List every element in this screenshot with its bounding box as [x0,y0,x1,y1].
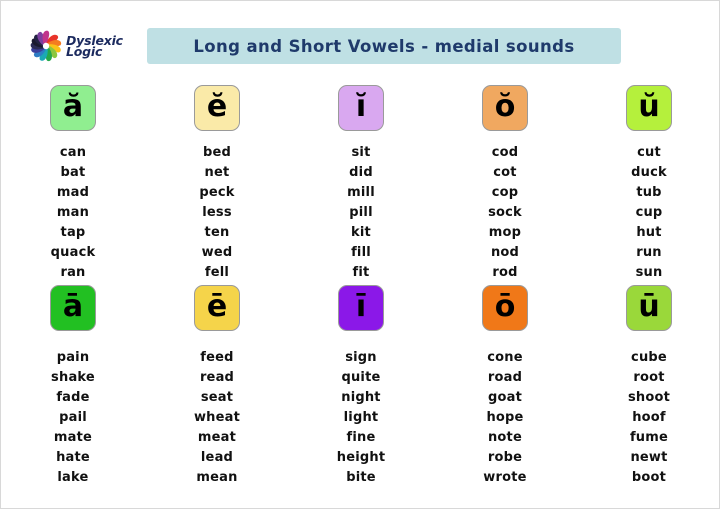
vowel-column-long-e: ēfeedreadseatwheatmeatleadmean [145,285,289,488]
word-item: run [636,243,662,263]
word-item: fit [353,263,370,283]
word-item: cube [631,348,667,368]
word-item: ten [205,223,230,243]
vowel-column-short-o: ŏcodcotcopsockmopnodrod [433,85,577,283]
word-item: height [337,448,386,468]
word-item: cod [492,143,519,163]
word-item: peck [199,183,234,203]
word-item: sign [345,348,377,368]
vowel-glyph-short-u: ŭ [638,92,659,122]
vowel-column-short-u: ŭcutducktubcuphutrunsun [577,85,720,283]
word-item: mad [57,183,89,203]
word-item: cone [487,348,523,368]
word-item: pail [59,408,87,428]
word-item: pain [57,348,90,368]
word-item: shoot [628,388,670,408]
vowel-glyph-short-a: ă [63,92,83,122]
word-item: bed [203,143,231,163]
vowel-glyph-long-a: ā [63,292,83,322]
word-item: duck [631,163,667,183]
word-item: wheat [194,408,240,428]
word-item: did [349,163,373,183]
vowel-column-long-o: ōconeroadgoathopenoterobewrote [433,285,577,488]
word-item: mop [489,223,521,243]
word-item: mean [196,468,237,488]
word-item: wrote [483,468,526,488]
word-item: hope [486,408,523,428]
vowel-column-short-e: ĕbednetpecklesstenwedfell [145,85,289,283]
word-item: sock [488,203,522,223]
word-item: nod [491,243,519,263]
page-header: Dyslexic Logic Long and Short Vowels - m… [1,23,720,69]
word-list-long-a: painshakefadepailmatehatelake [51,348,95,488]
word-item: sit [351,143,370,163]
vowel-tile-long-u[interactable]: ū [626,285,672,331]
word-item: quack [51,243,96,263]
word-item: tap [61,223,86,243]
word-item: hate [56,448,90,468]
word-item: bite [346,468,376,488]
short-vowels-section: ăcanbatmadmantapquackranĕbednetpecklesst… [1,85,720,283]
word-item: hut [636,223,661,243]
word-item: pill [349,203,372,223]
word-list-long-i: signquitenightlightfineheightbite [337,348,386,488]
word-item: fade [56,388,89,408]
word-item: lead [201,448,233,468]
word-list-long-o: coneroadgoathopenoterobewrote [483,348,526,488]
word-item: boot [632,468,666,488]
vowel-tile-long-o[interactable]: ō [482,285,528,331]
word-item: cup [636,203,663,223]
word-item: man [57,203,89,223]
word-item: shake [51,368,95,388]
brand-name-line-2: Logic [66,46,123,58]
title-banner: Long and Short Vowels - medial sounds [147,28,621,64]
vowel-tile-short-i[interactable]: ĭ [338,85,384,131]
brand-logo-wordmark: Dyslexic Logic [66,35,123,58]
word-item: road [488,368,522,388]
vowel-glyph-short-i: ĭ [356,92,366,122]
word-item: tub [636,183,661,203]
brand-logo: Dyslexic Logic [29,29,141,63]
vowel-column-long-i: īsignquitenightlightfineheightbite [289,285,433,488]
word-item: night [341,388,381,408]
word-item: cot [493,163,516,183]
word-item: seat [201,388,233,408]
vowel-tile-short-a[interactable]: ă [50,85,96,131]
vowel-glyph-long-u: ū [638,292,659,322]
vowel-tile-short-e[interactable]: ĕ [194,85,240,131]
word-item: lake [57,468,88,488]
worksheet-page: Dyslexic Logic Long and Short Vowels - m… [0,0,720,509]
vowel-glyph-long-i: ī [356,292,366,322]
word-list-short-i: sitdidmillpillkitfillfit [347,143,375,283]
vowel-column-short-a: ăcanbatmadmantapquackran [1,85,145,283]
word-item: fill [351,243,371,263]
word-item: light [344,408,379,428]
word-item: mill [347,183,375,203]
word-item: sun [636,263,663,283]
vowel-column-short-i: ĭsitdidmillpillkitfillfit [289,85,433,283]
word-list-short-u: cutducktubcuphutrunsun [631,143,667,283]
word-item: net [205,163,230,183]
word-item: meat [198,428,236,448]
vowel-glyph-long-e: ē [207,292,227,322]
sunburst-logo-icon [29,29,63,63]
word-item: kit [351,223,371,243]
word-item: mate [54,428,92,448]
word-item: feed [200,348,233,368]
vowel-tile-long-a[interactable]: ā [50,285,96,331]
word-list-long-u: cuberootshoothooffumenewtboot [628,348,670,488]
word-item: cop [492,183,519,203]
word-item: less [202,203,232,223]
word-item: robe [488,448,522,468]
word-item: newt [630,448,667,468]
word-item: rod [492,263,517,283]
word-item: fell [205,263,229,283]
word-item: read [200,368,234,388]
word-item: fine [347,428,376,448]
vowel-glyph-long-o: ō [495,292,516,322]
word-list-short-a: canbatmadmantapquackran [51,143,96,283]
vowel-tile-short-u[interactable]: ŭ [626,85,672,131]
word-item: can [60,143,86,163]
word-item: cut [637,143,661,163]
vowel-glyph-short-e: ĕ [207,92,227,122]
word-item: note [488,428,522,448]
vowel-tile-long-i[interactable]: ī [338,285,384,331]
word-list-long-e: feedreadseatwheatmeatleadmean [194,348,240,488]
vowel-tile-short-o[interactable]: ŏ [482,85,528,131]
word-item: root [633,368,664,388]
word-item: ran [60,263,85,283]
vowel-column-long-a: āpainshakefadepailmatehatelake [1,285,145,488]
word-item: bat [61,163,86,183]
word-list-short-o: codcotcopsockmopnodrod [488,143,522,283]
word-item: goat [488,388,522,408]
vowel-glyph-short-o: ŏ [495,92,516,122]
word-item: wed [202,243,233,263]
vowel-tile-long-e[interactable]: ē [194,285,240,331]
word-item: hoof [632,408,666,428]
word-item: quite [341,368,380,388]
word-item: fume [630,428,668,448]
page-title: Long and Short Vowels - medial sounds [193,37,574,56]
vowel-column-long-u: ūcuberootshoothooffumenewtboot [577,285,720,488]
long-vowels-section: āpainshakefadepailmatehatelakeēfeedreads… [1,285,720,488]
word-list-short-e: bednetpecklesstenwedfell [199,143,234,283]
